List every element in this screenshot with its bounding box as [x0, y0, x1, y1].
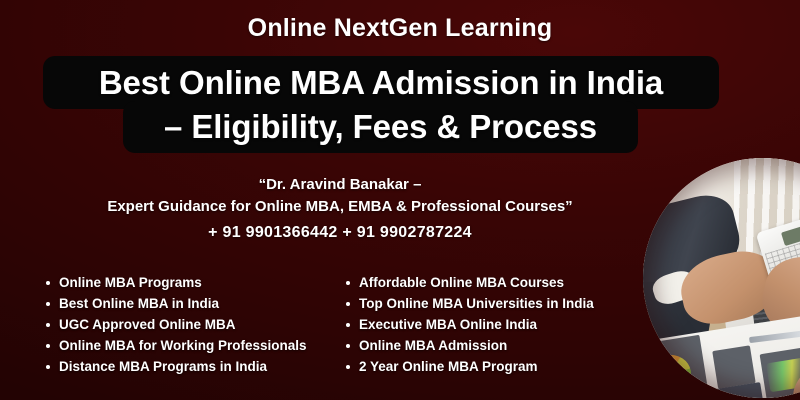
subtitle-line-2: Expert Guidance for Online MBA, EMBA & P…	[40, 196, 640, 218]
list-item: Best Online MBA in India	[44, 293, 344, 314]
bullet-list-left: Online MBA Programs Best Online MBA in I…	[44, 272, 344, 377]
keyword-lists: Online MBA Programs Best Online MBA in I…	[44, 272, 644, 377]
headline-line-2: – Eligibility, Fees & Process	[123, 101, 638, 153]
list-item: UGC Approved Online MBA	[44, 314, 344, 335]
keyword-column-left: Online MBA Programs Best Online MBA in I…	[44, 272, 344, 377]
list-item: Online MBA Programs	[44, 272, 344, 293]
list-item: Executive MBA Online India	[344, 314, 644, 335]
subtitle-line-1: “Dr. Aravind Banakar –	[40, 174, 640, 196]
list-item: Distance MBA Programs in India	[44, 356, 344, 377]
list-item: Online MBA for Working Professionals	[44, 335, 344, 356]
contact-phone-numbers: + 91 9901366442 + 91 9902787224	[40, 222, 640, 244]
subtitle-block: “Dr. Aravind Banakar – Expert Guidance f…	[40, 174, 640, 244]
bullet-list-right: Affordable Online MBA Courses Top Online…	[344, 272, 644, 377]
list-item: 2 Year Online MBA Program	[344, 356, 644, 377]
brand-kicker: Online NextGen Learning	[0, 14, 800, 43]
keyword-column-right: Affordable Online MBA Courses Top Online…	[344, 272, 644, 377]
banner-content: Online NextGen Learning Best Online MBA …	[0, 0, 800, 400]
list-item: Top Online MBA Universities in India	[344, 293, 644, 314]
promo-banner: Online NextGen Learning Best Online MBA …	[0, 0, 800, 400]
list-item: Online MBA Admission	[344, 335, 644, 356]
list-item: Affordable Online MBA Courses	[344, 272, 644, 293]
